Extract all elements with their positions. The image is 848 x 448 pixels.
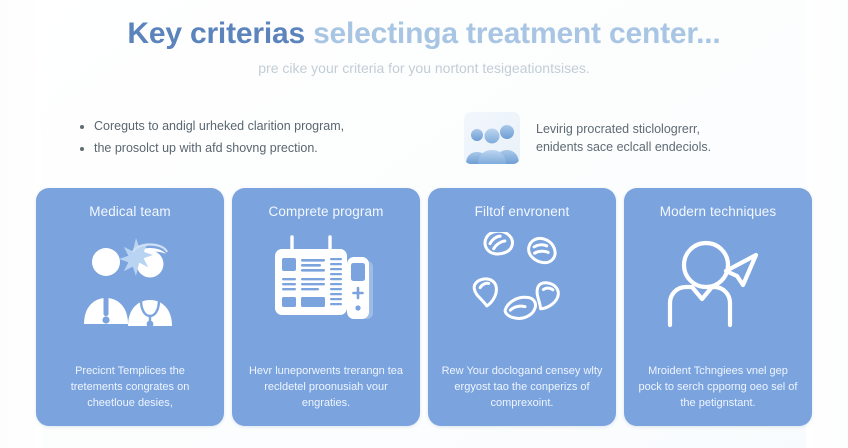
leaves-circle-icon [462,230,582,334]
header: Key criterias selectinga treatment cente… [0,16,848,77]
criteria-card-filtof-envronent[interactable]: Filtof envronent Rew Your doclogand cens… [428,188,616,426]
card-description: Mroident Tchngiees vnel gep pock to serc… [634,364,802,414]
infographic-page: Key criterias selectinga treatment cente… [0,0,848,448]
person-with-pointer-icon [662,230,774,334]
bullet-dot-icon [80,125,84,129]
intro-side-line: Levirig procrated sticlologrerr, [536,120,711,138]
criteria-card-medical-team[interactable]: Medical team [36,188,224,426]
card-description: Precicnt Templices the tretements congra… [46,364,214,414]
card-title: Filtof envronent [475,204,570,220]
card-description: Hevr luneporwents trerangn tea recldetel… [242,364,410,414]
intro-side-line: enidents sace eclcall endeciols. [536,138,711,156]
card-title: Modern techniques [660,204,777,220]
page-title-soft: selectinga treatment center... [305,17,721,50]
card-description: Rew Your doclogand censey wlty ergyost t… [438,364,606,414]
criteria-card-comprete-program[interactable]: Comprete program [232,188,420,426]
intro-side-note: Levirig procrated sticlologrerr, enident… [464,110,711,164]
card-title: Comprete program [269,204,384,220]
intro-row: Coreguts to andigl urheked clarition pro… [40,110,808,164]
bullet-label: the prosolct up with afd shovng prection… [94,140,318,157]
criteria-card-modern-techniques[interactable]: Modern techniques Mroident Tchngiees vne… [624,188,812,426]
bullet-label: Coreguts to andigl urheked clarition pro… [94,118,344,135]
clipboard-and-device-icon [267,230,385,334]
page-subtitle: pre cike your criteria for you nortont t… [0,60,848,77]
list-item: the prosolct up with afd shovng prection… [40,140,440,157]
page-title-strong: Key criterias [127,17,305,50]
intro-side-text: Levirig procrated sticlologrerr, enident… [536,120,711,156]
bullet-dot-icon [80,147,84,151]
criteria-card-grid: Medical team [36,188,812,426]
card-title: Medical team [89,204,170,220]
list-item: Coreguts to andigl urheked clarition pro… [40,118,440,135]
bullet-list: Coreguts to andigl urheked clarition pro… [40,110,440,162]
page-title: Key criterias selectinga treatment cente… [0,16,848,51]
doctor-and-nurse-icon [74,230,186,334]
people-group-icon [464,112,520,164]
